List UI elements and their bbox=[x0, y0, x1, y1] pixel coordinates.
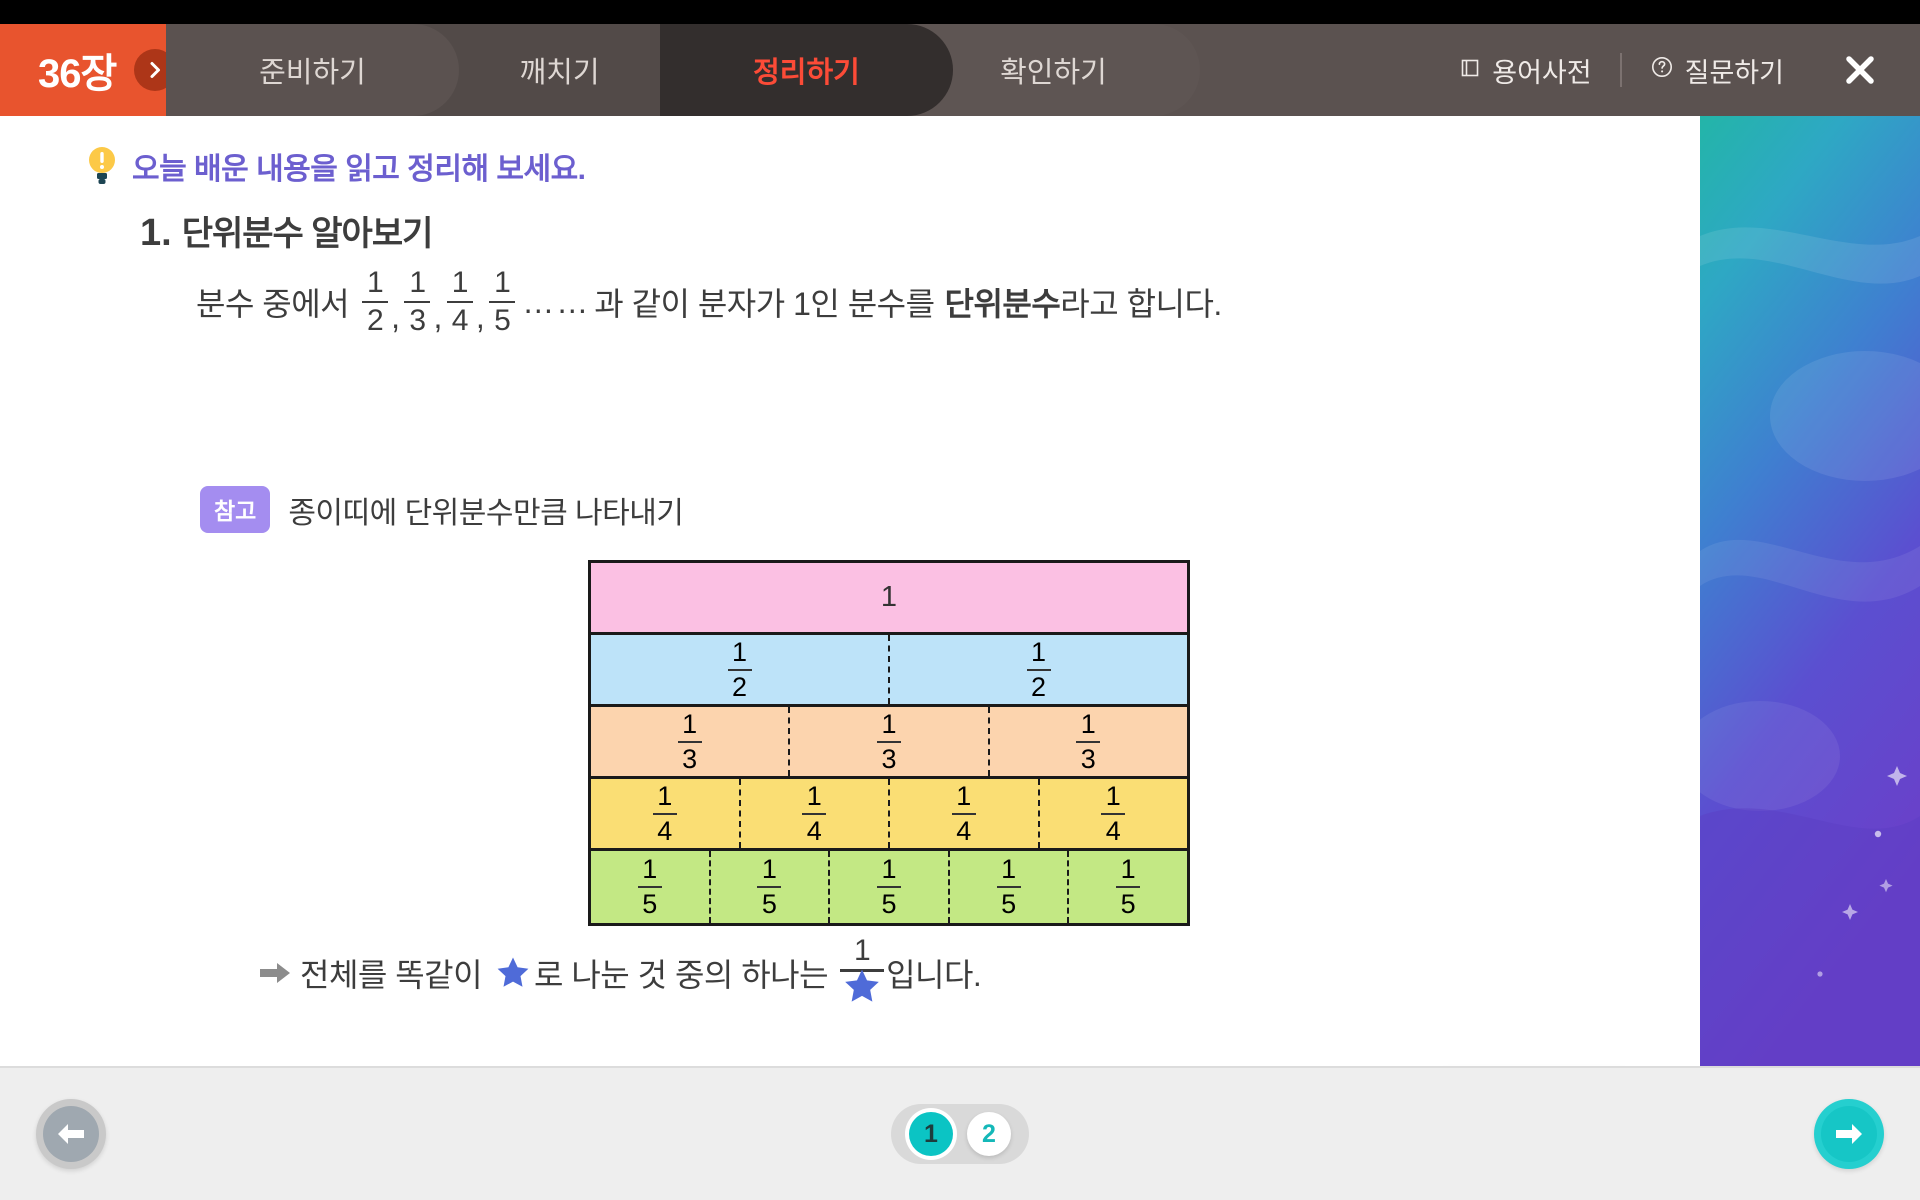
strip-cell: 1 3 bbox=[790, 707, 989, 776]
fraction-denominator: 5 bbox=[1001, 888, 1016, 918]
cell-fraction: 1 2 bbox=[728, 639, 752, 701]
fraction-numerator: 1 bbox=[854, 936, 870, 966]
cell-fraction: 1 5 bbox=[997, 856, 1021, 918]
fraction-denominator: 3 bbox=[881, 743, 896, 773]
cell-fraction: 1 3 bbox=[678, 711, 702, 773]
fraction-1-2: 1 2 bbox=[362, 268, 388, 336]
strip-cell: 1 2 bbox=[591, 635, 890, 704]
fraction-denominator: 5 bbox=[762, 888, 777, 918]
strip-row-fifths: 1 5 1 5 1 5 bbox=[591, 851, 1187, 923]
cell-fraction: 1 2 bbox=[1027, 639, 1051, 701]
separator-comma: , bbox=[391, 299, 401, 336]
conclusion-part2: 로 나눈 것 중의 하나는 bbox=[534, 950, 828, 996]
strip-cell: 1 2 bbox=[890, 635, 1187, 704]
fraction-1-4: 1 4 bbox=[447, 268, 473, 336]
fraction-denominator: 5 bbox=[1121, 888, 1136, 918]
close-icon bbox=[1840, 50, 1880, 90]
fraction-numerator: 1 bbox=[1031, 639, 1046, 669]
header-actions: 용어사전 질문하기 bbox=[1431, 24, 1920, 116]
definition-suffix: 라고 합니다. bbox=[1060, 279, 1221, 325]
page-indicator: 1 2 bbox=[891, 1104, 1029, 1164]
arrow-left-icon bbox=[43, 1106, 99, 1162]
fraction-denominator: 4 bbox=[956, 815, 971, 845]
ellipsis: …… bbox=[518, 284, 594, 321]
strip-cell: 1 5 bbox=[1069, 851, 1187, 923]
section-title: 단위분수 알아보기 bbox=[182, 206, 433, 255]
cell-fraction: 1 5 bbox=[638, 856, 662, 918]
section-heading: 1. 단위분수 알아보기 bbox=[140, 206, 432, 255]
book-icon bbox=[1459, 55, 1481, 86]
fraction-numerator: 1 bbox=[956, 783, 971, 813]
glossary-label: 용어사전 bbox=[1492, 51, 1591, 90]
cell-fraction: 1 4 bbox=[802, 783, 826, 845]
fraction-numerator: 1 bbox=[494, 268, 510, 301]
cell-fraction: 1 3 bbox=[877, 711, 901, 773]
conclusion-sentence: 전체를 똑같이 로 나눈 것 중의 하나는 1 입니다. bbox=[258, 936, 981, 1009]
fraction-numerator: 1 bbox=[807, 783, 822, 813]
fraction-denominator: 4 bbox=[452, 303, 468, 336]
fraction-one-over-star: 1 bbox=[840, 936, 884, 1009]
fraction-1-5: 1 5 bbox=[489, 268, 515, 336]
star-icon bbox=[496, 956, 530, 989]
cell-fraction: 1 5 bbox=[877, 856, 901, 918]
tab-bar: 준비하기 깨치기 정리하기 확인하기 bbox=[212, 24, 1200, 116]
definition-sentence: 분수 중에서 1 2 , 1 3 , 1 4 , 1 bbox=[196, 268, 1222, 336]
lead-instruction: 오늘 배운 내용을 읽고 정리해 보세요. bbox=[88, 144, 586, 188]
fraction-numerator: 1 bbox=[881, 856, 896, 886]
fraction-denominator: 3 bbox=[1081, 743, 1096, 773]
definition-bold-term: 단위분수 bbox=[945, 279, 1061, 325]
tab-정리하기[interactable]: 정리하기 bbox=[660, 24, 953, 116]
fraction-numerator: 1 bbox=[1106, 783, 1121, 813]
strip-row-quarters: 1 4 1 4 1 4 bbox=[591, 779, 1187, 851]
fraction-numerator: 1 bbox=[1081, 711, 1096, 741]
note-row: 참고 종이띠에 단위분수만큼 나타내기 bbox=[200, 486, 683, 533]
fraction-numerator: 1 bbox=[452, 268, 468, 301]
cell-fraction: 1 3 bbox=[1076, 711, 1100, 773]
strip-cell: 1 3 bbox=[591, 707, 790, 776]
tab-label: 깨치기 bbox=[519, 49, 599, 91]
chapter-label: 36장 bbox=[38, 41, 116, 99]
lead-text: 오늘 배운 내용을 읽고 정리해 보세요. bbox=[132, 144, 586, 188]
strip-cell: 1 bbox=[591, 563, 1187, 632]
fraction-denominator: 5 bbox=[642, 888, 657, 918]
section-number: 1. bbox=[140, 212, 172, 255]
bottom-navigation-bar: 1 2 bbox=[0, 1066, 1920, 1200]
fraction-numerator: 1 bbox=[657, 783, 672, 813]
strip-row-thirds: 1 3 1 3 1 3 bbox=[591, 707, 1187, 779]
arrow-right-icon bbox=[258, 960, 292, 986]
definition-prefix: 분수 중에서 bbox=[196, 279, 349, 325]
conclusion-part1: 전체를 똑같이 bbox=[300, 950, 482, 996]
fraction-numerator: 1 bbox=[732, 639, 747, 669]
cell-fraction: 1 4 bbox=[952, 783, 976, 845]
fraction-denominator: 2 bbox=[732, 671, 747, 701]
tab-label: 준비하기 bbox=[259, 49, 366, 91]
fraction-denominator: 2 bbox=[367, 303, 383, 336]
next-page-button[interactable] bbox=[1814, 1099, 1884, 1169]
strip-cell: 1 4 bbox=[741, 779, 891, 848]
question-button[interactable]: 질문하기 bbox=[1622, 51, 1812, 90]
cell-fraction: 1 5 bbox=[757, 856, 781, 918]
fraction-denominator: 3 bbox=[682, 743, 697, 773]
fraction-numerator: 1 bbox=[409, 268, 425, 301]
question-circle-icon bbox=[1650, 55, 1674, 86]
fraction-numerator: 1 bbox=[762, 856, 777, 886]
tab-준비하기[interactable]: 준비하기 bbox=[166, 24, 459, 116]
top-black-strip bbox=[0, 0, 1920, 24]
definition-middle: 과 같이 분자가 1인 분수를 bbox=[594, 279, 934, 325]
tab-label: 정리하기 bbox=[753, 49, 860, 91]
fraction-numerator: 1 bbox=[367, 268, 383, 301]
strip-cell: 1 4 bbox=[591, 779, 741, 848]
page-label: 1 bbox=[924, 1120, 938, 1149]
fraction-denominator: 4 bbox=[807, 815, 822, 845]
conclusion-part3: 입니다. bbox=[886, 950, 981, 996]
fraction-numerator: 1 bbox=[682, 711, 697, 741]
strip-cell: 1 4 bbox=[890, 779, 1040, 848]
lesson-content: 오늘 배운 내용을 읽고 정리해 보세요. 1. 단위분수 알아보기 분수 중에… bbox=[0, 116, 1700, 1066]
fraction-denominator: 3 bbox=[409, 303, 425, 336]
fraction-denominator: 4 bbox=[1106, 815, 1121, 845]
fraction-numerator: 1 bbox=[881, 711, 896, 741]
decorative-side-panel bbox=[1700, 116, 1920, 1066]
question-label: 질문하기 bbox=[1685, 51, 1784, 90]
strip-cell: 1 3 bbox=[990, 707, 1187, 776]
strip-row-halves: 1 2 1 2 bbox=[591, 635, 1187, 707]
fraction-denominator: 5 bbox=[881, 888, 896, 918]
strip-cell: 1 5 bbox=[591, 851, 711, 923]
lightbulb-icon bbox=[88, 145, 116, 187]
fraction-denominator: 2 bbox=[1031, 671, 1046, 701]
cell-label: 1 bbox=[881, 581, 897, 614]
strip-cell: 1 5 bbox=[711, 851, 831, 923]
fraction-denominator: 4 bbox=[657, 815, 672, 845]
note-badge: 참고 bbox=[200, 486, 270, 533]
arrow-right-icon bbox=[1821, 1106, 1877, 1162]
page-label: 2 bbox=[982, 1120, 996, 1149]
page-button-2[interactable]: 2 bbox=[967, 1112, 1011, 1156]
separator-comma: , bbox=[433, 299, 443, 336]
star-icon bbox=[843, 972, 881, 1009]
fraction-1-3: 1 3 bbox=[404, 268, 430, 336]
note-text: 종이띠에 단위분수만큼 나타내기 bbox=[288, 488, 683, 532]
cell-fraction: 1 4 bbox=[653, 783, 677, 845]
separator-comma: , bbox=[476, 299, 486, 336]
fraction-strip-chart: 1 1 2 1 2 bbox=[588, 560, 1190, 926]
strip-cell: 1 4 bbox=[1040, 779, 1188, 848]
strip-cell: 1 5 bbox=[830, 851, 950, 923]
previous-page-button[interactable] bbox=[36, 1099, 106, 1169]
tab-label: 확인하기 bbox=[1000, 49, 1107, 91]
cell-fraction: 1 5 bbox=[1116, 856, 1140, 918]
fraction-denominator: 5 bbox=[494, 303, 510, 336]
strip-row-whole: 1 bbox=[591, 563, 1187, 635]
strip-cell: 1 5 bbox=[950, 851, 1070, 923]
page-button-1[interactable]: 1 bbox=[909, 1112, 953, 1156]
app-root: 준비하기 깨치기 정리하기 확인하기 36장 bbox=[0, 0, 1920, 1200]
close-button[interactable] bbox=[1834, 44, 1886, 96]
glossary-button[interactable]: 용어사전 bbox=[1431, 51, 1619, 90]
fraction-numerator: 1 bbox=[1121, 856, 1136, 886]
cell-fraction: 1 4 bbox=[1101, 783, 1125, 845]
fraction-numerator: 1 bbox=[1001, 856, 1016, 886]
fraction-numerator: 1 bbox=[642, 856, 657, 886]
app-header: 준비하기 깨치기 정리하기 확인하기 36장 bbox=[0, 24, 1920, 116]
